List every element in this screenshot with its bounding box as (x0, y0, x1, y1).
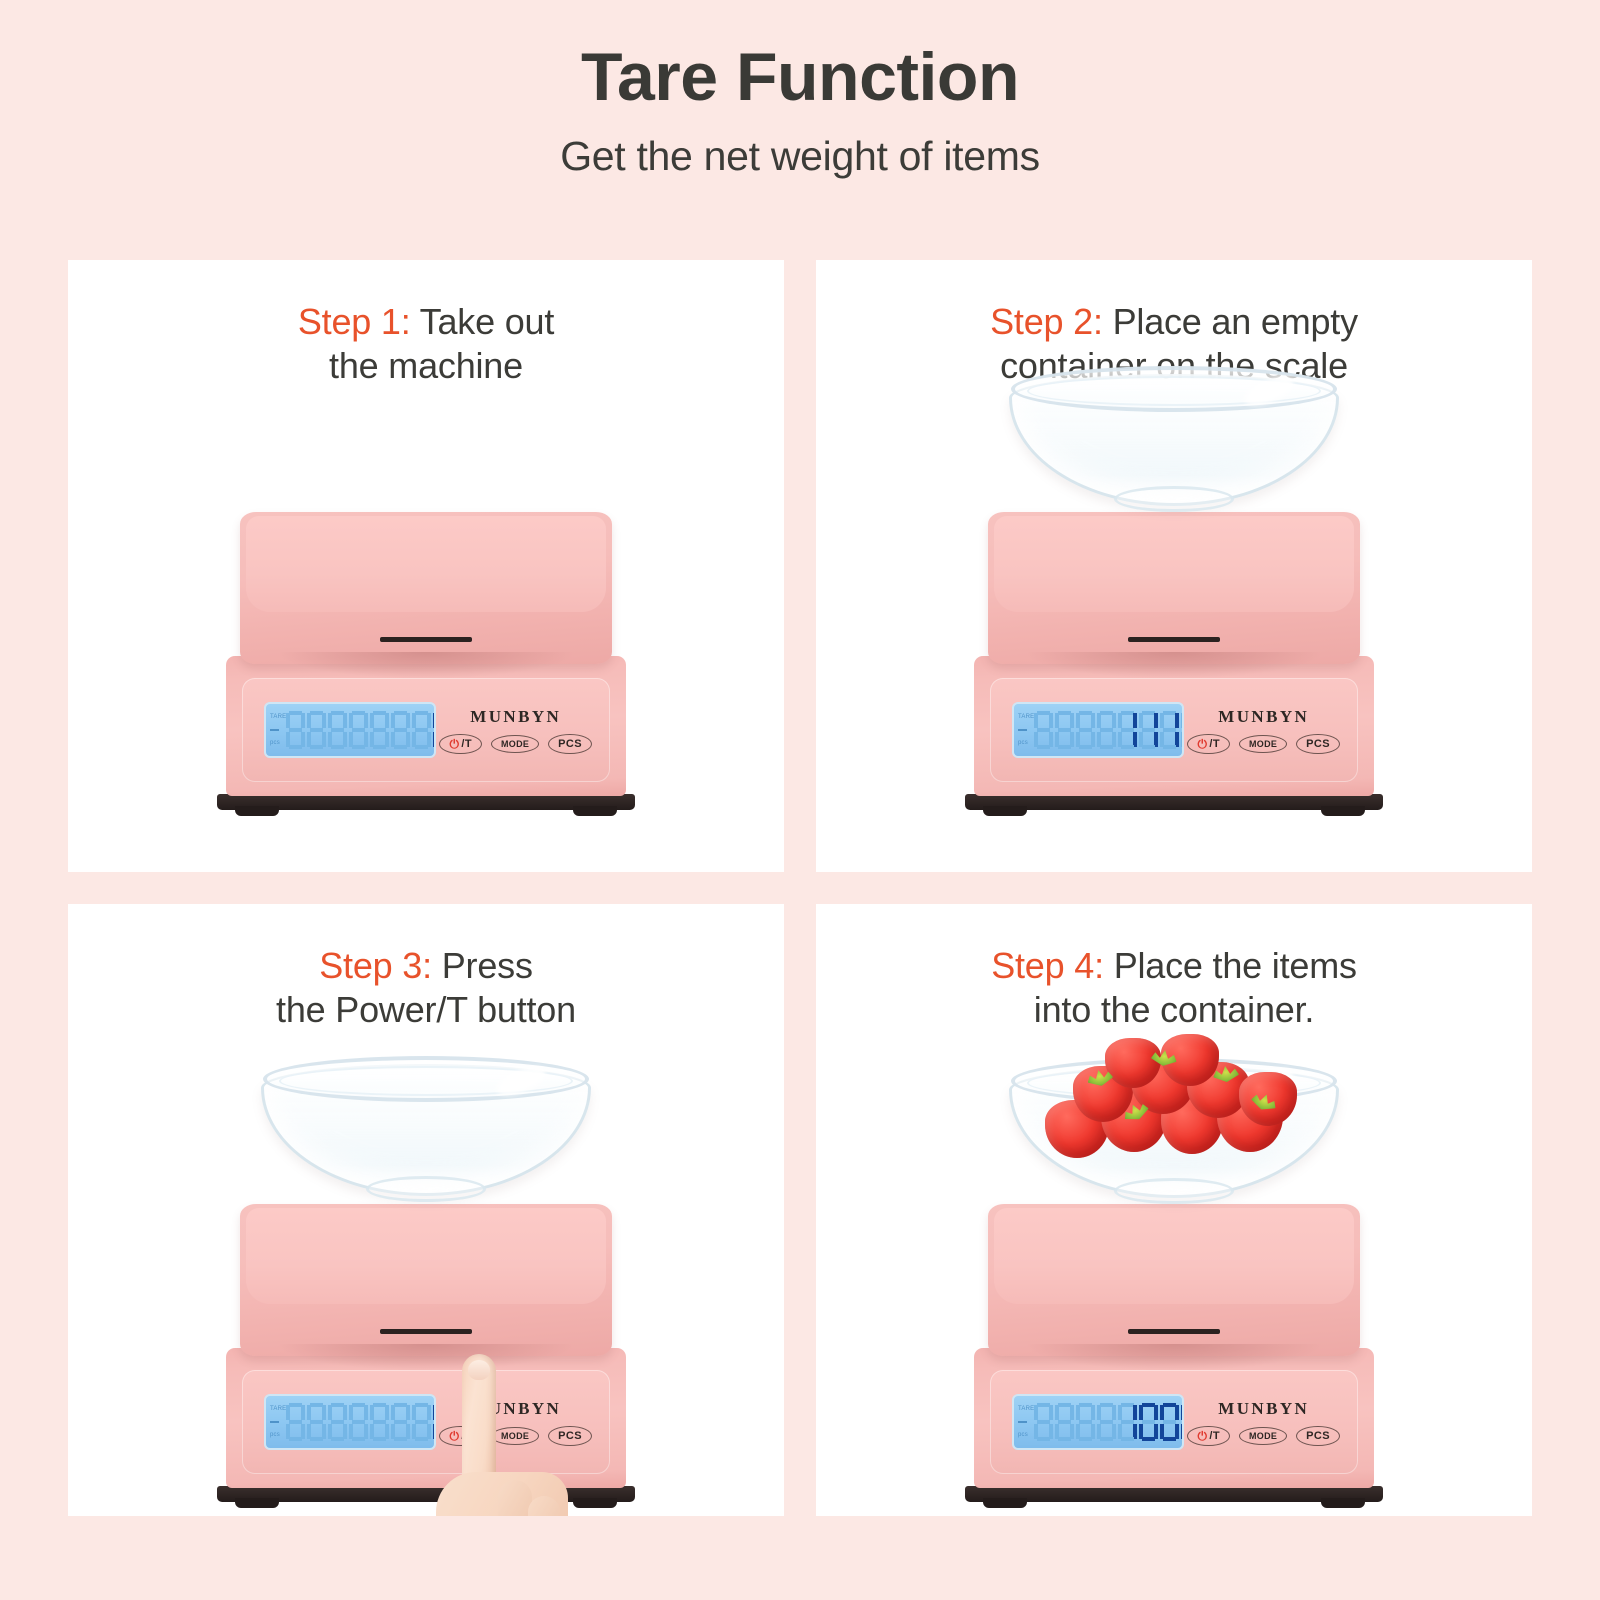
step-3-text2: the Power/T button (276, 989, 576, 1030)
button-row: ⏻ /T MODE PCS (439, 1426, 592, 1446)
pcs-button[interactable]: PCS (1296, 734, 1340, 754)
strawberry (1239, 1072, 1297, 1126)
lcd-digit (412, 1403, 431, 1441)
strawberry (1161, 1034, 1219, 1086)
control-panel: TARE pcs g MUNBYN ⏻ (242, 678, 610, 782)
lcd-display: TARE pcs g (1012, 1394, 1184, 1450)
scale-base (217, 1486, 635, 1502)
lcd-flag-tare: TARE (270, 1406, 286, 1412)
glass-bowl-3 (261, 1054, 591, 1204)
kitchen-scale-4: TARE pcs g MUNBYN ⏻ (965, 1204, 1383, 1502)
lcd-digit (349, 1403, 368, 1441)
button-row: ⏻ /T MODE PCS (1187, 1426, 1340, 1446)
bowl-highlight (1241, 1063, 1297, 1103)
scale-foot-left (983, 806, 1027, 816)
power-icon: ⏻ (449, 1430, 459, 1442)
lcd-indicators: TARE pcs (1018, 714, 1034, 746)
button-row: ⏻ /T MODE PCS (1187, 734, 1340, 754)
strawberry-leaf (1121, 1099, 1151, 1124)
panel-right: MUNBYN ⏻ /T MODE PCS (439, 707, 592, 754)
lcd-digit (370, 711, 389, 749)
scale-platform (240, 512, 612, 664)
step-card-2: Step 2: Place an empty container on the … (816, 260, 1532, 872)
panel-right: MUNBYN ⏻ /T MODE PCS (1187, 707, 1340, 754)
scale-base (217, 794, 635, 810)
scale-foot-left (235, 806, 279, 816)
power-icon: ⏻ (1197, 1430, 1207, 1442)
step-2-text: Place an empty (1113, 301, 1358, 342)
lcd-digit (1055, 1403, 1074, 1441)
lcd-flag-tare: TARE (270, 714, 286, 720)
bowl-foot (1114, 486, 1234, 512)
mode-button[interactable]: MODE (1239, 735, 1287, 753)
strawberry (1101, 1090, 1167, 1152)
platform-shadow (280, 652, 572, 678)
step-2-label: Step 2: Place an empty container on the … (816, 300, 1532, 388)
scale-platform (988, 1204, 1360, 1356)
strawberry-leaf (1150, 1048, 1178, 1067)
pcs-button[interactable]: PCS (1296, 1426, 1340, 1446)
lcd-dash-icon (270, 1421, 279, 1423)
page-subtitle: Get the net weight of items (0, 133, 1600, 180)
strawberry (1131, 1056, 1195, 1114)
page-title: Tare Function (0, 42, 1600, 113)
lcd-digit (1097, 1403, 1116, 1441)
scale-foot-right (1321, 1498, 1365, 1508)
power-icon: ⏻ (449, 738, 459, 750)
strawberry (1045, 1100, 1109, 1158)
lcd-digits (286, 711, 436, 749)
power-tare-button[interactable]: ⏻ /T (1187, 1426, 1229, 1446)
lcd-flag-pcs: pcs (270, 740, 286, 746)
kitchen-scale-2: TARE pcs g MUNBYN ⏻ (965, 512, 1383, 810)
step-1-label: Step 1: Take out the machine (68, 300, 784, 388)
lcd-flag-pcs: pcs (1018, 740, 1034, 746)
panel-right: MUNBYN ⏻ /T MODE PCS (439, 1399, 592, 1446)
power-tare-button[interactable]: ⏻ /T (1187, 734, 1229, 754)
scale-platform (988, 512, 1360, 664)
lcd-display: TARE pcs g (264, 702, 436, 758)
panel-right: MUNBYN ⏻ /T MODE PCS (1187, 1399, 1340, 1446)
lcd-digit (1118, 711, 1137, 749)
power-tare-button[interactable]: ⏻ /T (439, 1426, 481, 1446)
lcd-digit (433, 1403, 436, 1441)
lcd-digits (1034, 1403, 1184, 1441)
mode-button[interactable]: MODE (1239, 1427, 1287, 1445)
lcd-digit (370, 1403, 389, 1441)
lcd-digit (433, 711, 436, 749)
platform-slot (1128, 637, 1220, 642)
step-1-text2: the machine (329, 345, 523, 386)
scale-platform (240, 1204, 612, 1356)
lcd-flag-tare: TARE (1018, 714, 1034, 720)
mode-button[interactable]: MODE (491, 1427, 539, 1445)
scale-foot-left (983, 1498, 1027, 1508)
platform-slot (380, 637, 472, 642)
lcd-indicators: TARE pcs (270, 1406, 286, 1438)
power-button-label: /T (1209, 1430, 1220, 1442)
lcd-dash-icon (1018, 1421, 1027, 1423)
platform-shadow (280, 1344, 572, 1370)
lcd-display: TARE pcs g (1012, 702, 1184, 758)
brand-logo: MUNBYN (470, 1399, 561, 1419)
strawberry (1161, 1096, 1223, 1154)
lcd-digit (307, 1403, 326, 1441)
scale-foot-right (1321, 806, 1365, 816)
bowl-body (261, 1064, 591, 1196)
scale-base (965, 794, 1383, 810)
platform-shadow (1028, 652, 1320, 678)
lcd-digit (1034, 711, 1053, 749)
kitchen-scale-3: TARE pcs g MUNBYN ⏻ (217, 1204, 635, 1502)
strawberries (1035, 1060, 1313, 1156)
infographic-page: Tare Function Get the net weight of item… (0, 0, 1600, 1600)
step-4-text: Place the items (1114, 945, 1357, 986)
lcd-dash-icon (1018, 729, 1027, 731)
mode-button[interactable]: MODE (491, 735, 539, 753)
strawberry (1187, 1062, 1249, 1118)
bowl-inner-rim (1027, 1068, 1321, 1098)
step-card-3: Step 3: Press the Power/T button (68, 904, 784, 1516)
bowl-foot (1114, 1178, 1234, 1204)
step-3-label: Step 3: Press the Power/T button (68, 944, 784, 1032)
control-panel: TARE pcs g MUNBYN ⏻ (990, 678, 1358, 782)
lcd-digit (1181, 1403, 1184, 1441)
step-1-number: Step 1: (298, 301, 411, 342)
step-4-text2: into the container. (1034, 989, 1314, 1030)
lcd-digit (391, 1403, 410, 1441)
scale-foot-left (235, 1498, 279, 1508)
steps-grid: Step 1: Take out the machine TARE (68, 260, 1532, 1538)
glass-bowl-4 (1009, 1056, 1339, 1206)
strawberry-leaf (1249, 1090, 1279, 1114)
lcd-digit (1034, 1403, 1053, 1441)
step-card-1: Step 1: Take out the machine TARE (68, 260, 784, 872)
lcd-digit (328, 711, 347, 749)
lcd-digit (286, 711, 305, 749)
button-row: ⏻ /T MODE PCS (439, 734, 592, 754)
lcd-digit (1118, 1403, 1137, 1441)
power-tare-button[interactable]: ⏻ /T (439, 734, 481, 754)
lcd-display: TARE pcs g (264, 1394, 436, 1450)
strawberry-leaf (1086, 1067, 1115, 1088)
header: Tare Function Get the net weight of item… (0, 0, 1600, 180)
platform-slot (380, 1329, 472, 1334)
lcd-dash-icon (270, 729, 279, 731)
power-icon: ⏻ (1197, 738, 1207, 750)
lcd-indicators: TARE pcs (270, 714, 286, 746)
brand-logo: MUNBYN (470, 707, 561, 727)
scale-foot-right (573, 806, 617, 816)
lcd-indicators: TARE pcs (1018, 1406, 1034, 1438)
control-panel: TARE pcs g MUNBYN ⏻ (242, 1370, 610, 1474)
control-panel: TARE pcs g MUNBYN ⏻ (990, 1370, 1358, 1474)
bowl-rim (1011, 1058, 1337, 1104)
bowl-inner-rim (279, 1066, 573, 1096)
bowl-highlight (493, 1061, 549, 1101)
bowl-body (1009, 374, 1339, 506)
lcd-digits (1034, 711, 1184, 749)
platform-shadow (1028, 1344, 1320, 1370)
bowl-foot (366, 1176, 486, 1202)
lcd-flag-pcs: pcs (270, 1432, 286, 1438)
step-2-number: Step 2: (990, 301, 1103, 342)
pcs-button[interactable]: PCS (548, 734, 592, 754)
lcd-digit (328, 1403, 347, 1441)
lcd-digit (307, 711, 326, 749)
step-2-text2: container on the scale (1000, 345, 1348, 386)
strawberry (1105, 1038, 1161, 1088)
power-button-label: /T (461, 738, 472, 750)
lcd-digit (412, 711, 431, 749)
lcd-digit (1055, 711, 1074, 749)
lcd-digit (286, 1403, 305, 1441)
pcs-button[interactable]: PCS (548, 1426, 592, 1446)
lcd-digits (286, 1403, 436, 1441)
power-button-label: /T (461, 1430, 472, 1442)
step-card-4: Step 4: Place the items into the contain… (816, 904, 1532, 1516)
lcd-digit (1160, 1403, 1179, 1441)
step-3-text: Press (442, 945, 533, 986)
lcd-digit (1076, 1403, 1095, 1441)
brand-logo: MUNBYN (1218, 707, 1309, 727)
step-4-number: Step 4: (991, 945, 1104, 986)
strawberry (1073, 1066, 1133, 1122)
lcd-digit (1181, 711, 1184, 749)
lcd-flag-pcs: pcs (1018, 1432, 1034, 1438)
lcd-digit (349, 711, 368, 749)
bowl-body (1009, 1066, 1339, 1198)
lcd-digit (1076, 711, 1095, 749)
brand-logo: MUNBYN (1218, 1399, 1309, 1419)
platform-slot (1128, 1329, 1220, 1334)
strawberry (1217, 1090, 1283, 1152)
lcd-flag-tare: TARE (1018, 1406, 1034, 1412)
strawberry-leaf (1212, 1065, 1240, 1084)
scale-base (965, 1486, 1383, 1502)
bowl-rim (263, 1056, 589, 1102)
lcd-digit (1160, 711, 1179, 749)
lcd-digit (1097, 711, 1116, 749)
power-button-label: /T (1209, 738, 1220, 750)
lcd-digit (391, 711, 410, 749)
step-3-number: Step 3: (319, 945, 432, 986)
lcd-digit (1139, 711, 1158, 749)
step-1-text: Take out (420, 301, 555, 342)
step-4-label: Step 4: Place the items into the contain… (816, 944, 1532, 1032)
scale-foot-right (573, 1498, 617, 1508)
kitchen-scale-1: TARE pcs g MUNBYN ⏻ (217, 512, 635, 810)
lcd-digit (1139, 1403, 1158, 1441)
